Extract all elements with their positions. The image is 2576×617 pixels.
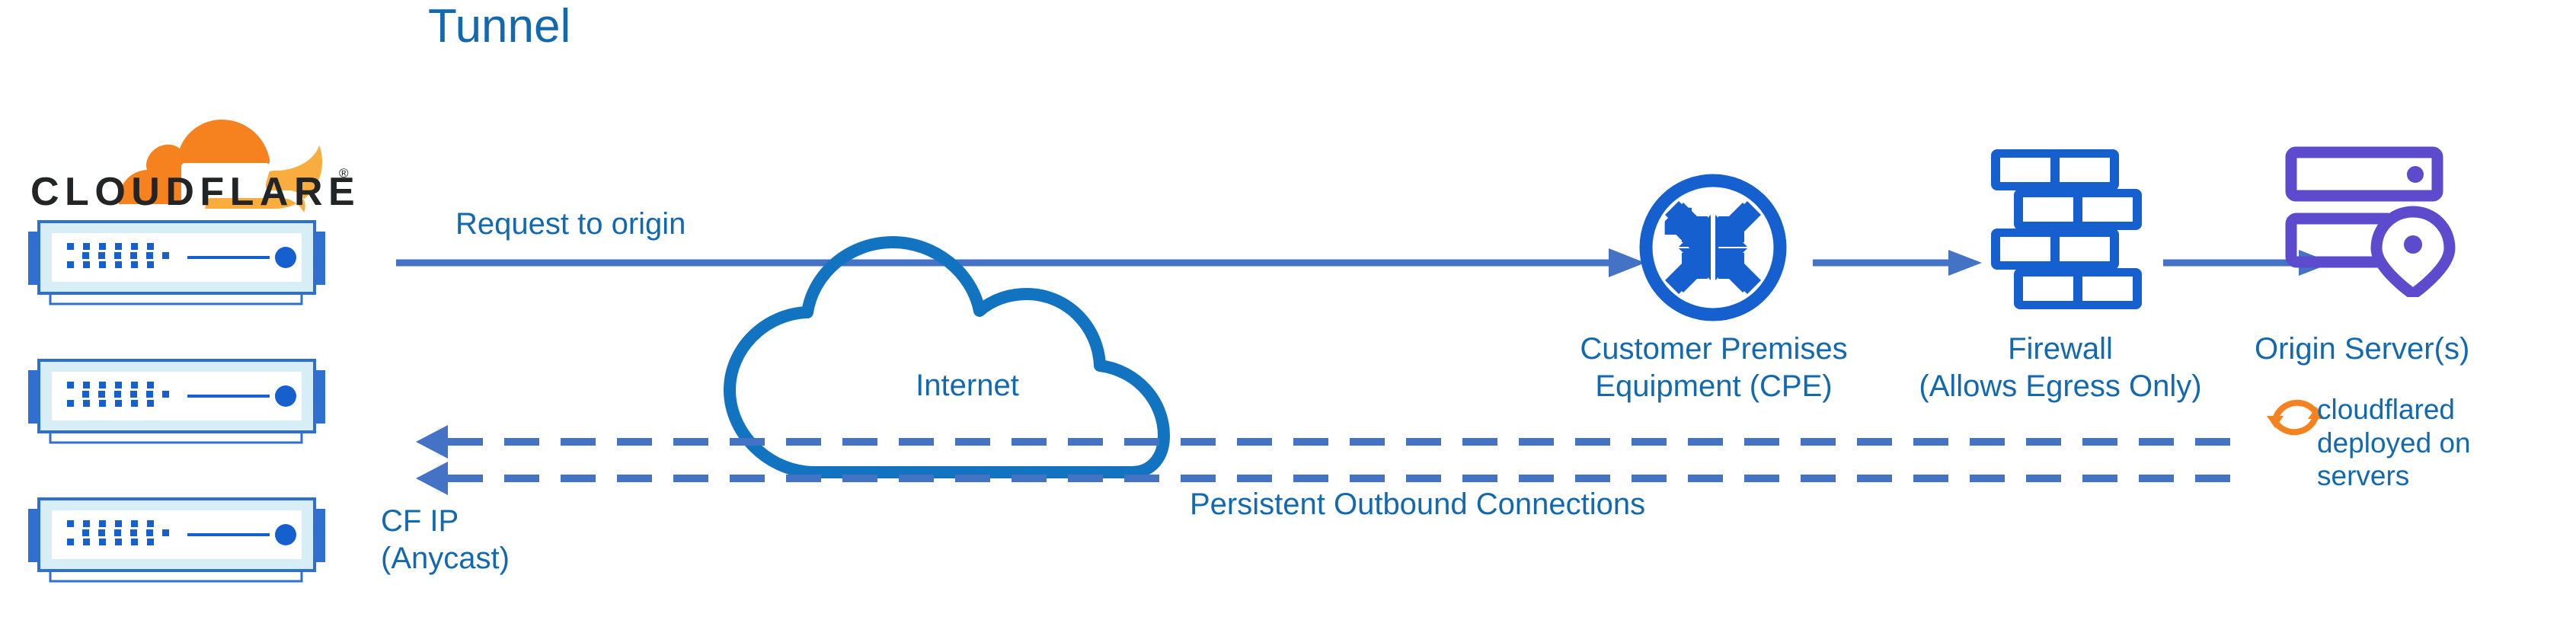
request-to-origin-label: Request to origin bbox=[455, 206, 686, 243]
firewall-label-line2: (Allows Egress Only) bbox=[1881, 368, 2239, 405]
persistent-outbound-connections-label: Persistent Outbound Connections bbox=[1190, 486, 1645, 523]
cf-ip-anycast-label: CF IP (Anycast) bbox=[381, 503, 510, 577]
cloudflared-label-line3: servers bbox=[2317, 459, 2568, 493]
origin-server-label: Origin Server(s) bbox=[2255, 331, 2574, 368]
diagram-canvas: Tunnel CLOUDFLARE ® bbox=[0, 0, 2576, 617]
cpe-label-line2: Equipment (CPE) bbox=[1539, 368, 1889, 405]
firewall-label-line1: Firewall bbox=[1881, 331, 2239, 368]
cpe-label: Customer Premises Equipment (CPE) bbox=[1539, 331, 1889, 405]
server-rack-location-pin-icon bbox=[2284, 145, 2459, 301]
cf-ip-label-line1: CF IP bbox=[381, 503, 510, 540]
connector-cpe-to-firewall bbox=[1813, 248, 1988, 278]
cf-ip-label-line2: (Anycast) bbox=[381, 540, 510, 577]
connector-persistent-outbound-upper bbox=[416, 425, 2239, 459]
cloudflared-label-line1: cloudflared bbox=[2317, 393, 2568, 427]
firewall-label: Firewall (Allows Egress Only) bbox=[1881, 331, 2239, 405]
cloudflared-label: cloudflared deployed on servers bbox=[2317, 393, 2568, 493]
cloudflared-label-line2: deployed on bbox=[2317, 427, 2568, 460]
converging-arrows-circle-icon bbox=[1635, 169, 1791, 330]
brick-wall-icon bbox=[1986, 145, 2146, 320]
cpe-label-line1: Customer Premises bbox=[1539, 331, 1889, 368]
